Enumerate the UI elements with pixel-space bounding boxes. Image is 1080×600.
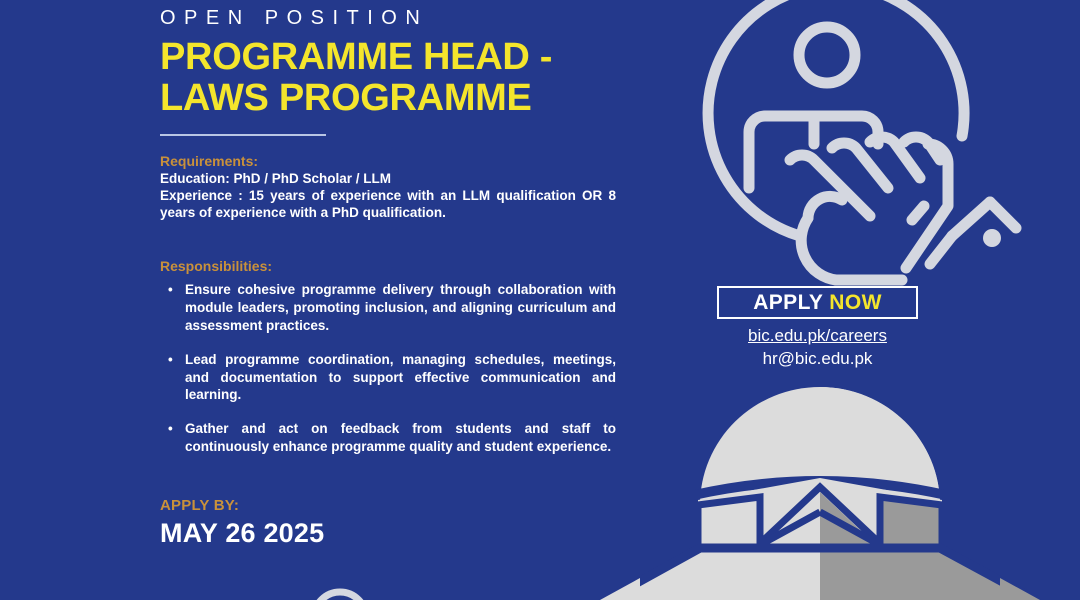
page-title: PROGRAMME HEAD - LAWS PROGRAMME <box>160 37 616 118</box>
bullet-icon: • <box>168 351 173 369</box>
content-column: OPEN POSITION PROGRAMME HEAD - LAWS PROG… <box>160 0 616 600</box>
list-item-text: Gather and act on feedback from students… <box>185 421 616 454</box>
bullet-icon: • <box>168 281 173 299</box>
apply-now-button-label-accent: NOW <box>829 291 882 315</box>
apply-now-button-label-primary: APPLY <box>753 291 823 315</box>
responsibilities-section: Responsibilities: • Ensure cohesive prog… <box>160 258 616 456</box>
requirements-experience: Experience : 15 years of experience with… <box>160 187 616 221</box>
list-item: • Lead programme coordination, managing … <box>160 351 616 404</box>
eyebrow-label: OPEN POSITION <box>160 0 616 28</box>
deadline-section: APPLY BY: MAY 26 2025 <box>160 497 324 549</box>
deadline-label: APPLY BY: <box>160 497 324 515</box>
requirements-education: Education: PhD / PhD Scholar / LLM <box>160 170 616 187</box>
deadline-date: MAY 26 2025 <box>160 519 324 549</box>
title-divider <box>160 134 326 136</box>
contact-email[interactable]: hr@bic.edu.pk <box>717 348 918 369</box>
requirements-section: Requirements: Education: PhD / PhD Schol… <box>160 153 616 221</box>
hand-pointing-person-icon <box>690 0 1080 292</box>
list-item: • Ensure cohesive programme delivery thr… <box>160 281 616 334</box>
apply-now-button[interactable]: APPLY NOW <box>717 286 918 319</box>
cursor-dot-icon <box>983 229 1001 247</box>
requirements-heading: Requirements: <box>160 153 616 170</box>
responsibilities-heading: Responsibilities: <box>160 258 616 275</box>
apply-section: APPLY NOW bic.edu.pk/careers hr@bic.edu.… <box>717 286 918 370</box>
list-item-text: Lead programme coordination, managing sc… <box>185 352 616 403</box>
job-posting-poster: OPEN POSITION PROGRAMME HEAD - LAWS PROG… <box>0 0 1080 600</box>
responsibilities-list: • Ensure cohesive programme delivery thr… <box>160 281 616 456</box>
list-item-text: Ensure cohesive programme delivery throu… <box>185 282 616 333</box>
careers-url-link[interactable]: bic.edu.pk/careers <box>717 325 918 346</box>
bullet-icon: • <box>168 420 173 438</box>
list-item: • Gather and act on feedback from studen… <box>160 420 616 456</box>
